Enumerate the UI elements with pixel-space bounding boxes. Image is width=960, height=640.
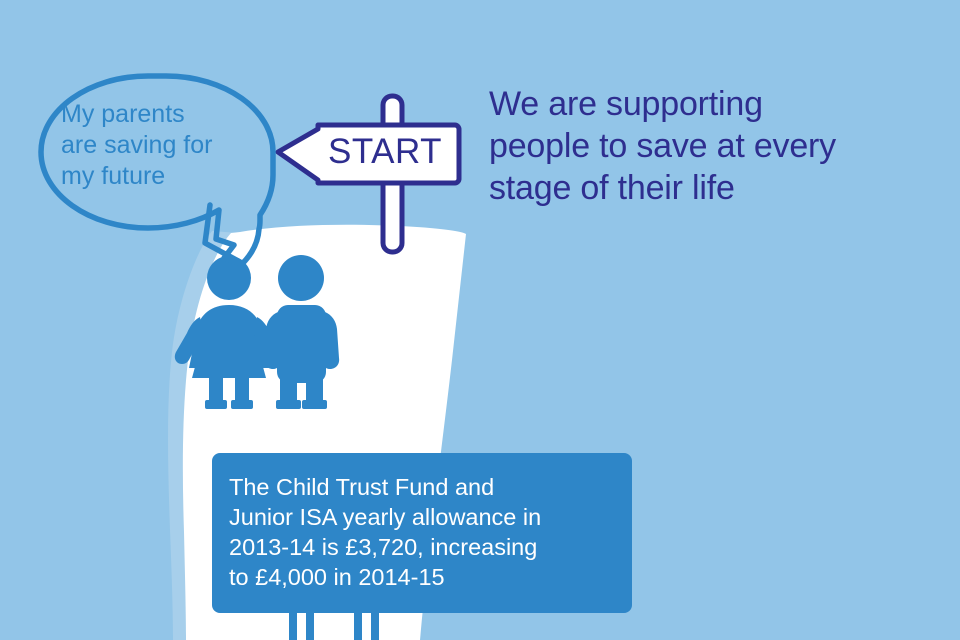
male-torso bbox=[277, 305, 326, 383]
female-right-foot bbox=[231, 400, 253, 409]
hidden-leg-4 bbox=[371, 612, 379, 640]
speech-bubble-text: My parents are saving for my future bbox=[61, 99, 266, 192]
male-left-foot bbox=[276, 400, 301, 409]
male-right-foot bbox=[302, 400, 327, 409]
hidden-leg-3 bbox=[354, 612, 362, 640]
male-head bbox=[278, 255, 324, 301]
hidden-leg-2 bbox=[306, 612, 314, 640]
female-skirt bbox=[192, 330, 266, 378]
start-sign-label: START bbox=[320, 131, 450, 173]
infographic-canvas: We are supporting people to save at ever… bbox=[0, 0, 960, 640]
hidden-leg-1 bbox=[289, 612, 297, 640]
female-left-foot bbox=[205, 400, 227, 409]
page-headline: We are supporting people to save at ever… bbox=[489, 83, 929, 209]
info-box-text: The Child Trust Fund and Junior ISA year… bbox=[229, 472, 621, 592]
